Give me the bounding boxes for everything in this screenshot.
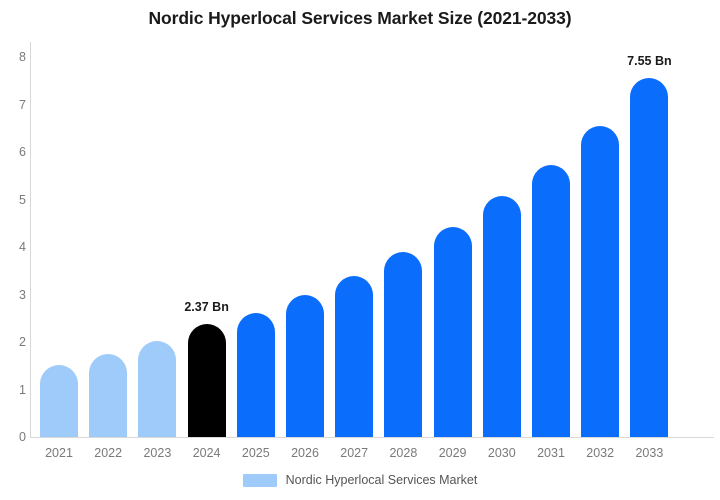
y-axis-tick-6: 6 — [2, 145, 26, 159]
x-axis-line — [30, 437, 714, 438]
bar-value-label-2024: 2.37 Bn — [184, 300, 228, 314]
y-axis-tick-0: 0 — [2, 430, 26, 444]
bar-group-2023[interactable] — [138, 42, 176, 437]
y-axis-tick-2: 2 — [2, 335, 26, 349]
bar-group-2033[interactable]: 7.55 Bn — [630, 42, 668, 437]
bar-2026[interactable] — [286, 295, 324, 437]
y-axis-tick-8: 8 — [2, 50, 26, 64]
bar-group-2028[interactable] — [384, 42, 422, 437]
bar-group-2030[interactable] — [483, 42, 521, 437]
chart-legend: Nordic Hyperlocal Services Market — [0, 473, 720, 487]
bar-group-2026[interactable] — [286, 42, 324, 437]
y-axis-tick-4: 4 — [2, 240, 26, 254]
y-axis-tick-1: 1 — [2, 383, 26, 397]
y-axis-tick-3: 3 — [2, 288, 26, 302]
y-axis-tick-5: 5 — [2, 193, 26, 207]
bar-group-2022[interactable] — [89, 42, 127, 437]
bar-2029[interactable] — [434, 227, 472, 437]
bar-group-2025[interactable] — [237, 42, 275, 437]
bar-2022[interactable] — [89, 354, 127, 437]
bar-2030[interactable] — [483, 196, 521, 437]
x-axis-tick-2033: 2033 — [619, 446, 679, 460]
bar-group-2027[interactable] — [335, 42, 373, 437]
bar-2021[interactable] — [40, 365, 78, 437]
bar-2032[interactable] — [581, 126, 619, 437]
bar-group-2032[interactable] — [581, 42, 619, 437]
bar-2031[interactable] — [532, 165, 570, 437]
bar-group-2029[interactable] — [434, 42, 472, 437]
bar-2023[interactable] — [138, 341, 176, 437]
bar-group-2024[interactable]: 2.37 Bn — [188, 42, 226, 437]
bar-2033[interactable] — [630, 78, 668, 437]
bar-2025[interactable] — [237, 313, 275, 437]
y-axis-tick-7: 7 — [2, 98, 26, 112]
bar-group-2031[interactable] — [532, 42, 570, 437]
chart-title: Nordic Hyperlocal Services Market Size (… — [0, 8, 720, 29]
bar-2027[interactable] — [335, 276, 373, 438]
bar-group-2021[interactable] — [40, 42, 78, 437]
bars-layer: 2.37 Bn7.55 Bn — [31, 42, 714, 437]
bar-chart: Nordic Hyperlocal Services Market Size (… — [0, 0, 720, 500]
bar-value-label-2033: 7.55 Bn — [627, 54, 671, 68]
bar-2028[interactable] — [384, 252, 422, 437]
legend-swatch-icon — [243, 474, 277, 487]
bar-2024[interactable] — [188, 324, 226, 437]
legend-label: Nordic Hyperlocal Services Market — [286, 473, 478, 487]
